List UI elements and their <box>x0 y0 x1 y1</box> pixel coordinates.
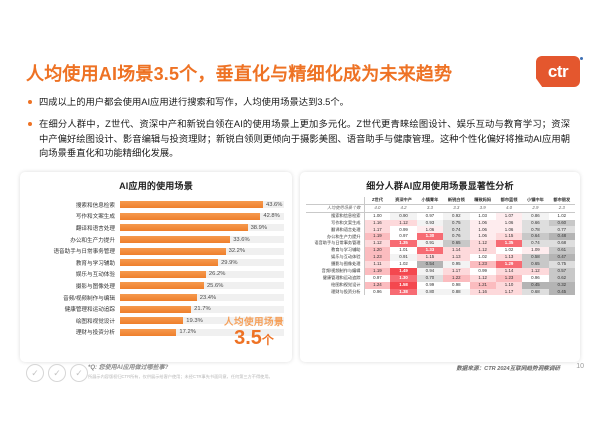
bar-row: 音频/视频制作与编辑23.4% <box>28 292 284 304</box>
table-row-label: 健康管理和运动追踪 <box>306 275 364 282</box>
bar-fill <box>120 329 176 336</box>
table-cell: 0.91 <box>390 254 416 261</box>
table-cell: 2.9 <box>522 204 548 212</box>
bar-row: 健康管理和运动追踪21.7% <box>28 303 284 315</box>
bar-category-label: 办公和生产力提升 <box>28 236 120 244</box>
table-cell: 1.35 <box>496 240 522 247</box>
table-cell: 1.06 <box>496 226 522 233</box>
bar-row: 搜索和信息检索43.6% <box>28 199 284 211</box>
table-cell: 0.70 <box>417 275 443 282</box>
table-cell: 1.12 <box>470 240 496 247</box>
table-cell: 0.68 <box>522 289 548 296</box>
bar-category-label: 翻译和语言处理 <box>28 224 120 232</box>
bar-row: 教育与学习辅助29.9% <box>28 257 284 269</box>
bar-value-label: 25.6% <box>207 283 223 289</box>
table-cell: 0.77 <box>549 226 575 233</box>
table-cell: 0.75 <box>549 261 575 268</box>
table-column-header: 都市蓝领 <box>496 197 522 204</box>
table-cell: 1.24 <box>364 282 390 289</box>
table-cell: 0.32 <box>549 282 575 289</box>
table-column-header: 资深中产 <box>390 197 416 204</box>
bar-value-label: 26.2% <box>209 271 225 277</box>
table-cell: 0.60 <box>549 220 575 227</box>
table-cell: 1.07 <box>496 212 522 219</box>
heatmap-table-panel: 细分人群AI应用使用场景显著性分析 Z世代资深中产小镇青年新锐白领精致妈妈都市蓝… <box>300 172 580 362</box>
bar-track: 42.8% <box>120 213 284 220</box>
table-cell: 1.17 <box>496 289 522 296</box>
bar-track: 21.7% <box>120 306 284 313</box>
bar-value-label: 29.9% <box>221 260 237 266</box>
table-cell: 1.02 <box>390 261 416 268</box>
table-cell: 0.64 <box>522 233 548 240</box>
callout-unit: 个 <box>262 333 274 347</box>
table-cell: 1.38 <box>390 289 416 296</box>
table-cell: 0.57 <box>549 268 575 275</box>
data-source: 数据来源：CTR 2024互联网趋势洞察调研 <box>456 364 560 372</box>
bar-row: 写作和文案生成42.8% <box>28 211 284 223</box>
bar-fill <box>120 294 197 301</box>
bar-fill <box>120 201 263 208</box>
table-row: 写作和文案生成1.161.120.930.751.061.060.660.60 <box>306 220 575 227</box>
table-cell: 0.45 <box>549 289 575 296</box>
table-cell: 0.78 <box>522 226 548 233</box>
table-cell: 3.3 <box>417 204 443 212</box>
bar-value-label: 32.2% <box>229 248 245 254</box>
bar-track: 38.9% <box>120 224 284 231</box>
bar-category-label: 理财与投资分析 <box>28 328 120 336</box>
table-cell: 0.80 <box>417 289 443 296</box>
bar-track: 25.6% <box>120 282 284 289</box>
table-cell: 1.12 <box>470 275 496 282</box>
table-cell: 1.12 <box>390 220 416 227</box>
table-cell: 0.91 <box>417 240 443 247</box>
bar-fill <box>120 236 230 243</box>
table-cell: 1.14 <box>496 268 522 275</box>
table-row-label: 人均使用场景个数 <box>306 204 364 212</box>
table-cell: 0.96 <box>364 289 390 296</box>
bar-value-label: 19.3% <box>186 318 202 324</box>
bar-track: 32.2% <box>120 248 284 255</box>
table-cell: 0.86 <box>522 212 548 219</box>
table-cell: 1.35 <box>390 240 416 247</box>
bar-track: 43.6% <box>120 201 284 208</box>
heatmap-table-wrap: Z世代资深中产小镇青年新锐白领精致妈妈都市蓝领小镇中年都市银发人均使用场景个数4… <box>300 192 580 297</box>
table-row: 教育与学习辅助1.201.011.331.141.121.021.090.61 <box>306 247 575 254</box>
check-badge-icon: ✓ <box>48 364 66 382</box>
table-cell: 1.11 <box>364 261 390 268</box>
bar-fill <box>120 224 248 231</box>
table-cell: 0.62 <box>549 275 575 282</box>
table-cell: 4.0 <box>496 204 522 212</box>
bar-fill <box>120 306 191 313</box>
bar-category-label: 写作和文案生成 <box>28 212 120 220</box>
heatmap-table: Z世代资深中产小镇青年新锐白领精致妈妈都市蓝领小镇中年都市银发人均使用场景个数4… <box>306 197 575 295</box>
table-cell: 0.48 <box>549 233 575 240</box>
table-cell: 0.76 <box>443 233 469 240</box>
table-cell: 1.15 <box>417 254 443 261</box>
table-row: 搜索和信息检索1.000.900.970.921.031.070.861.02 <box>306 212 575 219</box>
table-row-label: 写作和文案生成 <box>306 220 364 227</box>
table-cell: 0.90 <box>390 212 416 219</box>
table-row-label: 教育与学习辅助 <box>306 247 364 254</box>
bar-category-label: 音频/视频制作与编辑 <box>28 294 120 302</box>
table-cell: 1.06 <box>496 220 522 227</box>
bar-category-label: 搜索和信息检索 <box>28 201 120 209</box>
table-cell: 1.17 <box>364 226 390 233</box>
list-item: 四成以上的用户都会使用AI应用进行搜索和写作，人均使用场景达到3.5个。 <box>28 95 570 109</box>
table-cell: 1.19 <box>364 233 390 240</box>
bullet-list: 四成以上的用户都会使用AI应用进行搜索和写作，人均使用场景达到3.5个。 在细分… <box>28 95 570 169</box>
bar-category-label: 教育与学习辅助 <box>28 259 120 267</box>
bar-fill <box>120 259 218 266</box>
copyright-disclaimer: 所展示内容版权归CTR所有，仅供展示给客户使用；未经CTR事先书面同意，任何第三… <box>88 374 418 380</box>
table-row: 健康管理和运动追踪0.971.300.701.221.121.230.960.6… <box>306 275 575 282</box>
table-cell: 0.75 <box>443 220 469 227</box>
table-cell: 4.2 <box>390 204 416 212</box>
table-cell: 1.12 <box>470 247 496 254</box>
bar-fill <box>120 248 226 255</box>
heatmap-table-title: 细分人群AI应用使用场景显著性分析 <box>300 172 580 192</box>
bar-category-label: 摄影与图像处理 <box>28 282 120 290</box>
table-cell: 0.99 <box>417 282 443 289</box>
table-row: 翻译和语言处理1.170.991.060.741.061.060.780.77 <box>306 226 575 233</box>
bullet-dot-icon <box>28 122 32 126</box>
table-cell: 1.58 <box>390 282 416 289</box>
table-cell: 1.16 <box>470 289 496 296</box>
table-cell: 3.9 <box>470 204 496 212</box>
bar-row: 娱乐与互动体验26.2% <box>28 269 284 281</box>
callout-value: 3.5 <box>234 327 262 349</box>
table-row-label: 音频/视频制作与编辑 <box>306 268 364 275</box>
table-cell: 0.93 <box>417 220 443 227</box>
table-row: 绘图和视觉设计1.241.580.990.981.211.100.450.32 <box>306 282 575 289</box>
table-cell: 1.06 <box>470 226 496 233</box>
table-cell: 1.10 <box>496 282 522 289</box>
table-row: 人均使用场景个数4.04.23.33.33.94.02.92.3 <box>306 204 575 212</box>
table-cell: 3.3 <box>443 204 469 212</box>
table-row: 理财与投资分析0.961.380.800.881.161.170.680.45 <box>306 289 575 296</box>
table-cell: 1.02 <box>549 212 575 219</box>
table-cell: 1.23 <box>470 261 496 268</box>
table-cell: 0.74 <box>522 240 548 247</box>
table-cell: 0.47 <box>549 254 575 261</box>
bar-category-label: 绘图和视觉设计 <box>28 317 120 325</box>
bar-category-label: 健康管理和运动追踪 <box>28 305 120 313</box>
check-badge-icon: ✓ <box>26 364 44 382</box>
table-cell: 0.74 <box>443 226 469 233</box>
table-header-row: Z世代资深中产小镇青年新锐白领精致妈妈都市蓝领小镇中年都市银发 <box>306 197 575 204</box>
table-cell: 0.97 <box>390 233 416 240</box>
bar-value-label: 43.6% <box>266 202 282 208</box>
table-cell: 1.23 <box>364 254 390 261</box>
table-cell: 0.61 <box>549 247 575 254</box>
table-cell: 0.99 <box>470 268 496 275</box>
table-cell: 1.03 <box>470 212 496 219</box>
bar-fill <box>120 317 183 324</box>
table-cell: 4.0 <box>364 204 390 212</box>
table-cell: 1.02 <box>470 254 496 261</box>
table-cell: 0.95 <box>443 261 469 268</box>
bar-chart-title: AI应用的使用场景 <box>20 172 292 192</box>
table-cell: 0.88 <box>443 289 469 296</box>
bullet-text: 四成以上的用户都会使用AI应用进行搜索和写作，人均使用场景达到3.5个。 <box>39 95 349 109</box>
bullet-text: 在细分人群中，Z世代、资深中产和新锐白领在AI的使用场景上更加多元化。Z世代更青… <box>39 117 570 160</box>
bar-value-label: 23.4% <box>200 295 216 301</box>
table-cell: 0.92 <box>443 212 469 219</box>
table-column-header: 精致妈妈 <box>470 197 496 204</box>
table-cell: 1.33 <box>417 247 443 254</box>
table-corner-cell <box>306 197 364 204</box>
table-cell: 1.21 <box>470 282 496 289</box>
table-row: 摄影与图像处理1.111.020.540.951.231.290.650.75 <box>306 261 575 268</box>
table-cell: 1.23 <box>496 275 522 282</box>
table-cell: 1.06 <box>470 220 496 227</box>
table-row: 娱乐与互动体验1.230.911.151.131.021.130.580.47 <box>306 254 575 261</box>
table-cell: 1.12 <box>522 268 548 275</box>
table-cell: 0.96 <box>522 275 548 282</box>
bar-value-label: 33.6% <box>233 237 249 243</box>
table-cell: 1.19 <box>364 268 390 275</box>
table-cell: 1.15 <box>496 233 522 240</box>
table-cell: 0.98 <box>443 282 469 289</box>
average-callout: 人均使用场景 3.5个 <box>224 318 284 349</box>
page-number: 10 <box>576 363 584 370</box>
table-cell: 1.29 <box>496 261 522 268</box>
table-row: 音频/视频制作与编辑1.191.490.941.170.991.141.120.… <box>306 268 575 275</box>
table-cell: 1.01 <box>390 247 416 254</box>
table-column-header: 新锐白领 <box>443 197 469 204</box>
table-row-label: 翻译和语言处理 <box>306 226 364 233</box>
bar-track: 23.4% <box>120 294 284 301</box>
bar-fill <box>120 282 204 289</box>
callout-label: 人均使用场景 <box>224 318 284 328</box>
table-cell: 1.06 <box>470 233 496 240</box>
table-cell: 0.65 <box>522 261 548 268</box>
table-cell: 1.12 <box>364 240 390 247</box>
table-cell: 0.68 <box>549 240 575 247</box>
table-cell: 1.13 <box>496 254 522 261</box>
bar-track: 29.9% <box>120 259 284 266</box>
table-row-label: 理财与投资分析 <box>306 289 364 296</box>
footer-icon-group: ✓ ✓ ✓ <box>26 364 88 382</box>
logo-text: ctr <box>548 63 568 81</box>
table-cell: 1.30 <box>417 233 443 240</box>
table-cell: 2.3 <box>549 204 575 212</box>
table-cell: 1.13 <box>443 254 469 261</box>
table-column-header: 都市银发 <box>549 197 575 204</box>
table-cell: 1.17 <box>443 268 469 275</box>
logo-shape: ctr <box>536 56 580 87</box>
table-cell: 1.06 <box>417 226 443 233</box>
callout-number: 3.5个 <box>224 328 284 348</box>
slide-root: ctr 人均使用AI场景3.5个，垂直化与精细化成为未来趋势 四成以上的用户都会… <box>0 0 600 424</box>
table-cell: 0.54 <box>417 261 443 268</box>
bar-value-label: 17.2% <box>179 329 195 335</box>
table-cell: 1.20 <box>364 247 390 254</box>
bar-fill <box>120 213 260 220</box>
bar-chart-panel: AI应用的使用场景 搜索和信息检索43.6%写作和文案生成42.8%翻译和语言处… <box>20 172 292 362</box>
table-cell: 0.97 <box>364 275 390 282</box>
page-title: 人均使用AI场景3.5个，垂直化与精细化成为未来趋势 <box>26 60 452 86</box>
logo-dot-icon <box>580 57 583 60</box>
table-row-label: 娱乐与互动体验 <box>306 254 364 261</box>
table-cell: 0.58 <box>522 254 548 261</box>
table-cell: 0.65 <box>443 240 469 247</box>
table-cell: 1.16 <box>364 220 390 227</box>
bar-category-label: 语音助手与日常事务管理 <box>28 247 120 255</box>
bar-row: 摄影与图像处理25.6% <box>28 280 284 292</box>
bar-track: 26.2% <box>120 271 284 278</box>
table-cell: 1.49 <box>390 268 416 275</box>
check-badge-icon: ✓ <box>70 364 88 382</box>
bar-row: 办公和生产力提升33.6% <box>28 234 284 246</box>
bar-row: 翻译和语言处理38.9% <box>28 222 284 234</box>
table-cell: 1.02 <box>496 247 522 254</box>
ctr-logo: ctr <box>536 56 582 90</box>
table-cell: 0.45 <box>522 282 548 289</box>
table-cell: 0.66 <box>522 220 548 227</box>
table-cell: 1.00 <box>364 212 390 219</box>
table-row-label: 绘图和视觉设计 <box>306 282 364 289</box>
table-row-label: 摄影与图像处理 <box>306 261 364 268</box>
table-row-label: 搜索和信息检索 <box>306 212 364 219</box>
bullet-dot-icon <box>28 100 32 104</box>
table-cell: 1.14 <box>443 247 469 254</box>
table-cell: 0.99 <box>390 226 416 233</box>
table-cell: 1.09 <box>522 247 548 254</box>
survey-question: *Q: 您使用AI应用做过哪些事? <box>88 362 168 371</box>
bar-category-label: 娱乐与互动体验 <box>28 270 120 278</box>
bar-value-label: 38.9% <box>251 225 267 231</box>
bar-row: 语音助手与日常事务管理32.2% <box>28 245 284 257</box>
bar-fill <box>120 271 206 278</box>
table-cell: 1.22 <box>443 275 469 282</box>
table-column-header: 小镇青年 <box>417 197 443 204</box>
table-column-header: Z世代 <box>364 197 390 204</box>
list-item: 在细分人群中，Z世代、资深中产和新锐白领在AI的使用场景上更加多元化。Z世代更青… <box>28 117 570 160</box>
bar-value-label: 42.8% <box>263 213 279 219</box>
table-cell: 1.30 <box>390 275 416 282</box>
table-column-header: 小镇中年 <box>522 197 548 204</box>
table-cell: 0.94 <box>417 268 443 275</box>
bar-value-label: 21.7% <box>194 306 210 312</box>
table-cell: 0.97 <box>417 212 443 219</box>
bar-track: 33.6% <box>120 236 284 243</box>
